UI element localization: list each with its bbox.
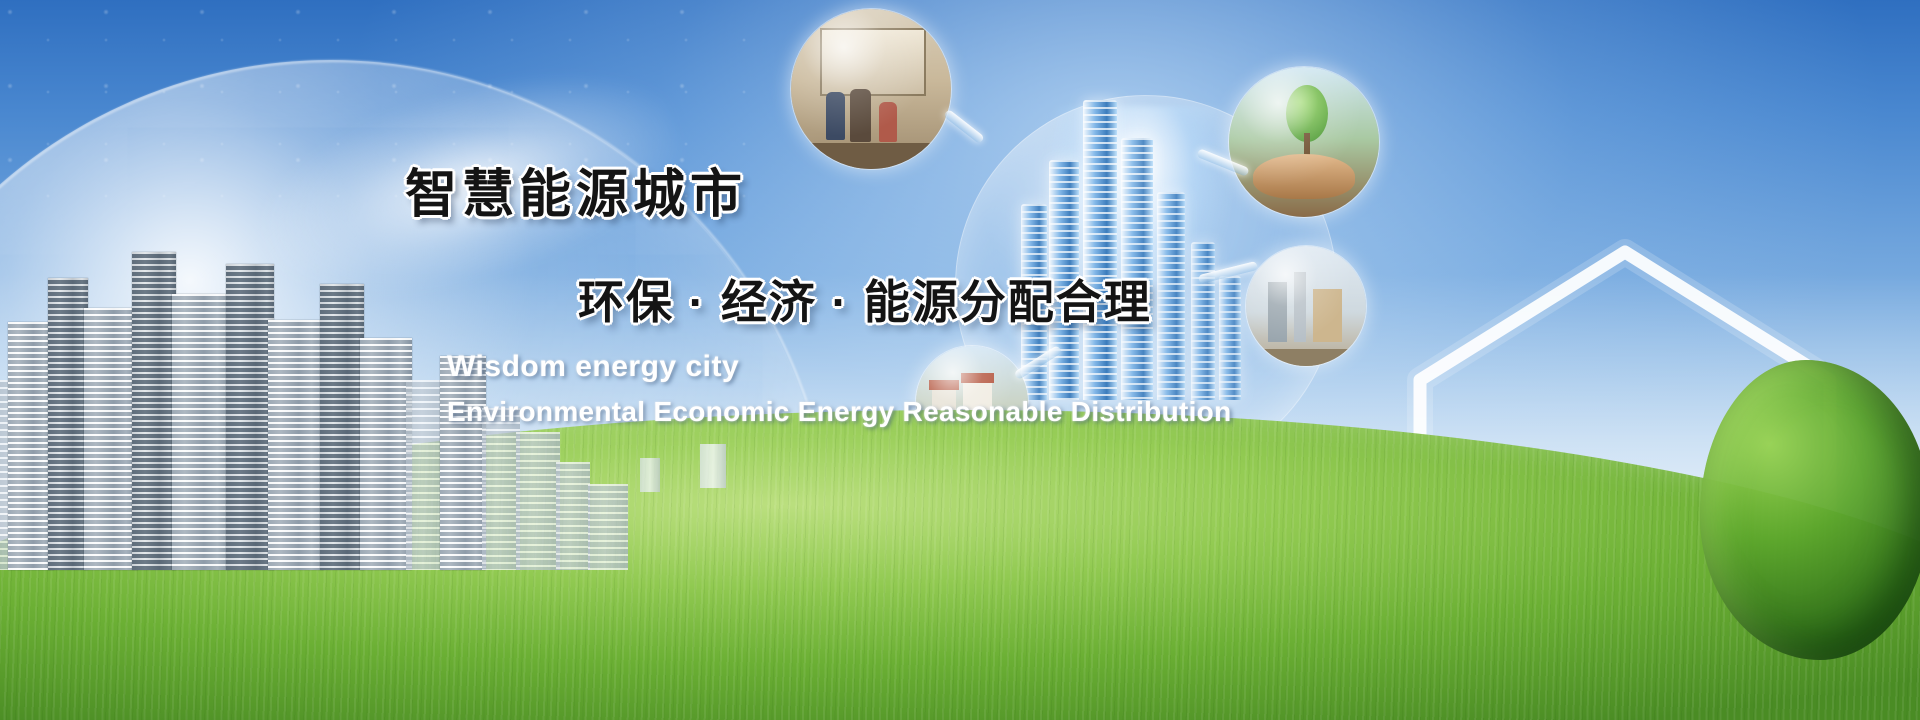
glass-tower — [1157, 192, 1185, 400]
banner-subtitle-cn: 环保 · 经济 · 能源分配合理 — [578, 266, 1152, 332]
glass-tower — [1083, 100, 1117, 400]
banner-subtitle-en: Environmental Economic Energy Reasonable… — [447, 396, 1232, 428]
distant-building-b — [640, 458, 660, 492]
banner-title-en: Wisdom energy city — [447, 350, 739, 384]
tree-graphic — [1700, 360, 1920, 660]
glass-tower — [1219, 276, 1241, 400]
tree-hand-bubble — [1228, 66, 1380, 218]
banner-root: 智慧能源城市 环保 · 经济 · 能源分配合理 Wisdom energy ci… — [0, 0, 1920, 720]
family-photo-bubble — [790, 8, 952, 170]
glass-tower — [1191, 242, 1215, 400]
distant-building-a — [700, 444, 726, 488]
left-city-skyline — [0, 210, 700, 570]
industry-bubble — [1245, 245, 1367, 367]
banner-title-cn: 智慧能源城市 — [405, 152, 747, 227]
tree-canopy — [1700, 360, 1920, 660]
